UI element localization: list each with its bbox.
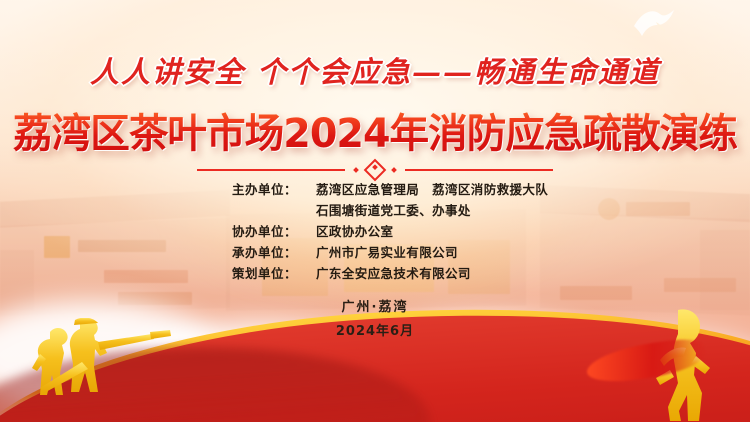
dove-icon (630, 6, 676, 40)
organizer-label: 承办单位： (232, 242, 316, 261)
page-title: 荔湾区茶叶市场2024年消防应急疏散演练 (4, 101, 747, 159)
divider-ornament (0, 162, 750, 178)
divider-line-left (197, 169, 345, 171)
organizer-value: 荔湾区应急管理局 荔湾区消防救援大队 (316, 179, 548, 198)
organizer-row: 承办单位：广州市广易实业有限公司 (232, 242, 518, 261)
organizer-value: 广州市广易实业有限公司 (316, 242, 458, 261)
organizer-label: 策划单位： (232, 263, 316, 282)
poster-canvas: 人人讲安全 个个会应急——畅通生命通道 荔湾区茶叶市场2024年消防应急疏散演练… (0, 0, 750, 422)
organizer-row: 主办单位：石围塘街道党工委、办事处 (232, 200, 518, 219)
poster-footer: 广州·荔湾 2024年6月 (0, 296, 750, 339)
organizer-label: 主办单位： (232, 179, 316, 198)
diamond-ornament-icon (364, 159, 387, 182)
organizer-value: 区政协办公室 (316, 221, 393, 240)
divider-line-right (405, 169, 553, 171)
divider-dot-right (391, 167, 397, 173)
organizer-value: 广东全安应急技术有限公司 (316, 263, 471, 282)
organizer-row: 主办单位：荔湾区应急管理局 荔湾区消防救援大队 (232, 179, 518, 198)
organizer-value: 石围塘街道党工委、办事处 (316, 200, 471, 219)
poster-subtitle: 人人讲安全 个个会应急——畅通生命通道 (0, 49, 750, 91)
organizer-row: 协办单位：区政协办公室 (232, 221, 518, 240)
divider-dot-left (353, 167, 359, 173)
footer-place: 广州·荔湾 (0, 296, 750, 315)
organizer-row: 策划单位：广东全安应急技术有限公司 (232, 263, 518, 282)
organizer-label: 协办单位： (232, 221, 316, 240)
footer-date: 2024年6月 (0, 320, 750, 339)
organizer-list: 主办单位：荔湾区应急管理局 荔湾区消防救援大队主办单位：石围塘街道党工委、办事处… (0, 179, 750, 284)
